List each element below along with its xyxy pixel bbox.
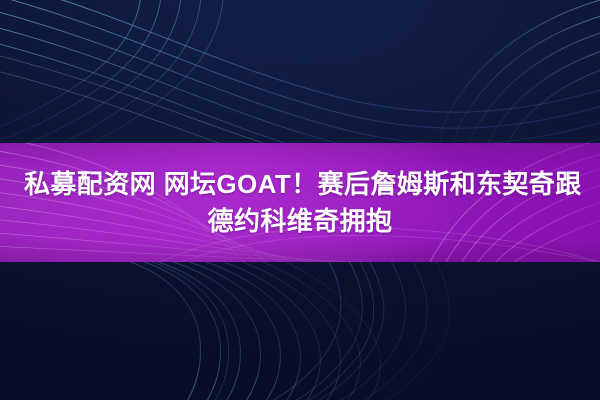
banner-image: 私募配资网 网坛GOAT！赛后詹姆斯和东契奇跟 德约科维奇拥抱 [0, 0, 600, 400]
headline-line-1: 私募配资网 网坛GOAT！赛后詹姆斯和东契奇跟 [18, 168, 582, 201]
headline-text: 私募配资网 网坛GOAT！赛后詹姆斯和东契奇跟 德约科维奇拥抱 [0, 143, 600, 262]
headline-line-2: 德约科维奇拥抱 [18, 205, 582, 238]
